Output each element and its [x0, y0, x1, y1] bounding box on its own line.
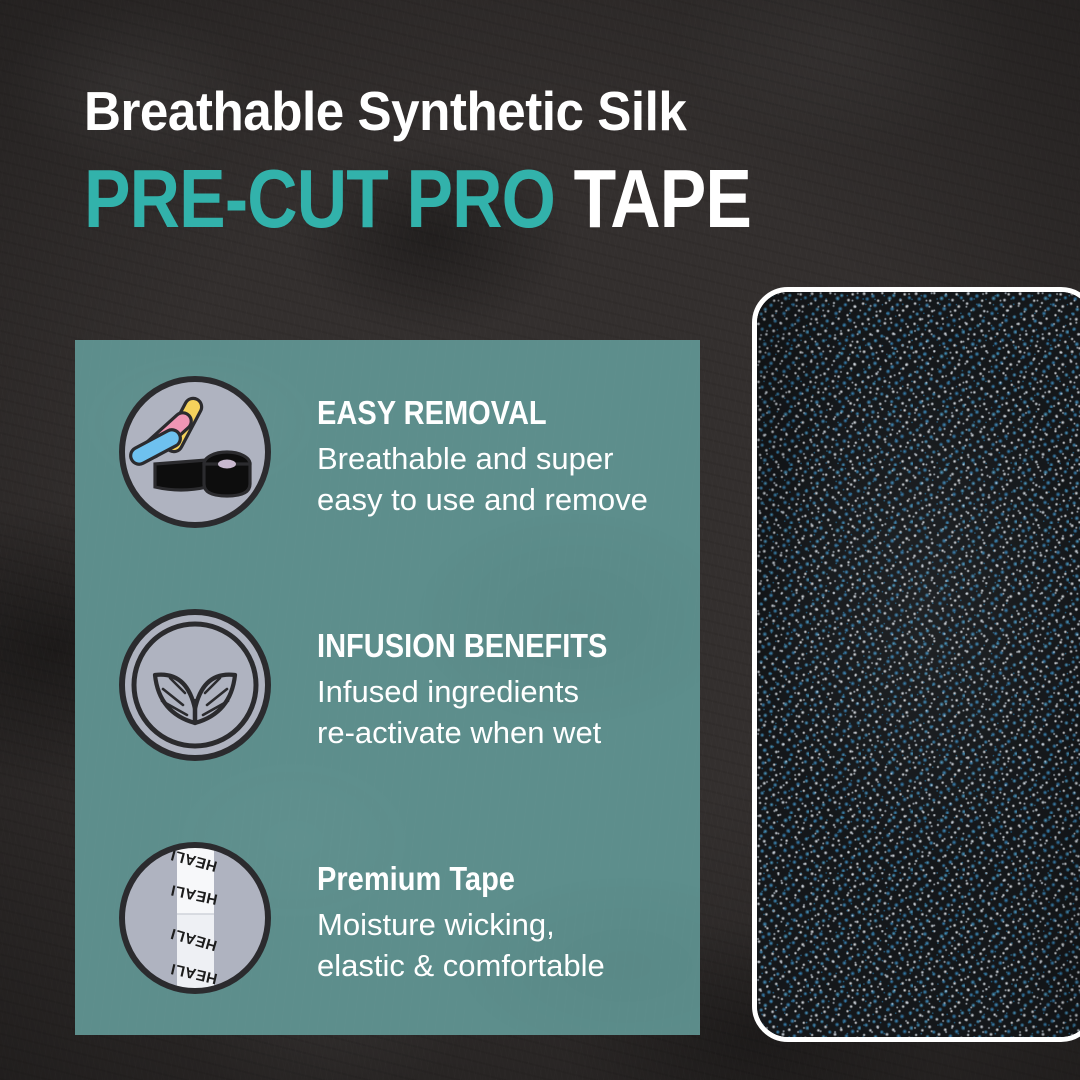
feature-item-infusion-benefits: INFUSION BENEFITS Infused ingredients re… — [115, 605, 680, 765]
two-leaves-icon — [115, 605, 275, 765]
branded-tape-strip-icon: HEALI HEALI HEALI HEALI — [115, 838, 275, 998]
feature-title: EASY REMOVAL — [317, 396, 636, 431]
feature-text-easy-removal: EASY REMOVAL Breathable and super easy t… — [275, 372, 680, 520]
headline-white-text — [555, 152, 574, 245]
feature-text-infusion-benefits: INFUSION BENEFITS Infused ingredients re… — [275, 605, 680, 753]
product-tape-strip-image — [752, 287, 1080, 1042]
headline-tape-text: TAPE — [574, 152, 751, 245]
feature-description-line-1: Infused ingredients — [317, 672, 680, 713]
feature-description-line-1: Moisture wicking, — [317, 905, 680, 946]
headline-line-1: Breathable Synthetic Silk — [84, 84, 735, 139]
headline-accent-text: PRE-CUT PRO — [84, 152, 555, 245]
feature-description-line-2: elastic & comfortable — [317, 946, 680, 987]
feature-title: Premium Tape — [317, 862, 636, 897]
feature-text-premium-tape: Premium Tape Moisture wicking, elastic &… — [275, 838, 680, 986]
tape-strips-and-rolls-icon — [115, 372, 275, 532]
headline-block: Breathable Synthetic Silk PRE-CUT PRO TA… — [84, 84, 784, 240]
feature-description-line-2: easy to use and remove — [317, 480, 680, 521]
feature-description: Infused ingredients re-activate when wet — [317, 672, 680, 754]
headline-line-2: PRE-CUT PRO TAPE — [84, 157, 672, 240]
features-panel: EASY REMOVAL Breathable and super easy t… — [75, 340, 700, 1035]
feature-description: Moisture wicking, elastic & comfortable — [317, 905, 680, 987]
feature-description-line-1: Breathable and super — [317, 439, 680, 480]
product-shading-overlay — [757, 292, 1080, 1037]
feature-description: Breathable and super easy to use and rem… — [317, 439, 680, 521]
product-infographic: Breathable Synthetic Silk PRE-CUT PRO TA… — [0, 0, 1080, 1080]
feature-description-line-2: re-activate when wet — [317, 713, 680, 754]
feature-title: INFUSION BENEFITS — [317, 629, 636, 664]
feature-item-premium-tape: HEALI HEALI HEALI HEALI Premium Tape Moi… — [115, 838, 680, 998]
feature-item-easy-removal: EASY REMOVAL Breathable and super easy t… — [115, 372, 680, 532]
